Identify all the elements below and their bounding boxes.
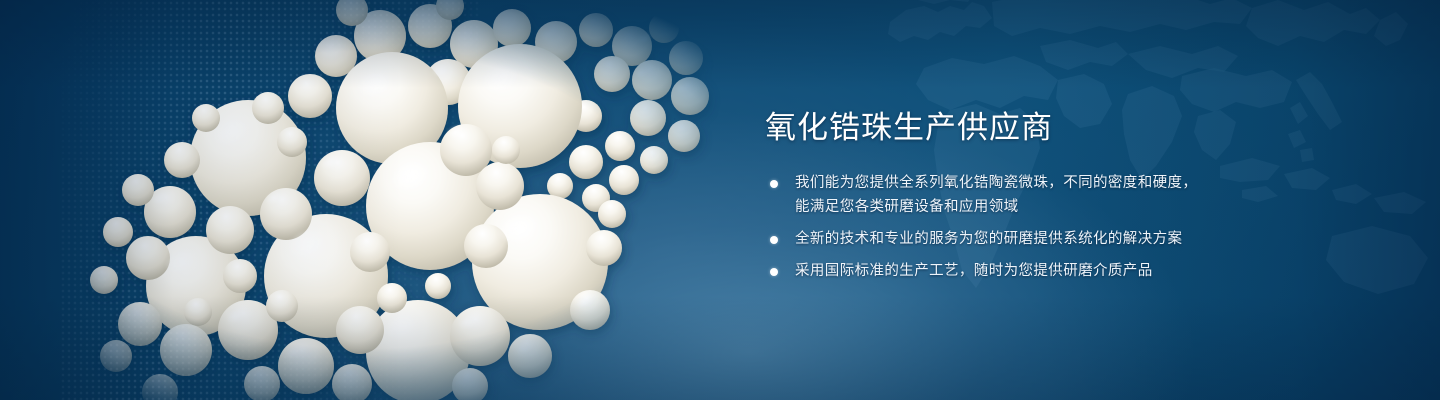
bullet-text-line: 全新的技术和专业的服务为您的研磨提供系统化的解决方案 — [795, 228, 1385, 251]
feature-bullet-list: 我们能为您提供全系列氧化锆陶瓷微珠，不同的密度和硬度， 能满足您各类研磨设备和应… — [765, 172, 1385, 283]
page-title: 氧化锆珠生产供应商 — [765, 108, 1385, 148]
list-item: 全新的技术和专业的服务为您的研磨提供系统化的解决方案 — [765, 228, 1385, 251]
banner-copy-block: 氧化锆珠生产供应商 我们能为您提供全系列氧化锆陶瓷微珠，不同的密度和硬度， 能满… — [765, 108, 1385, 283]
hero-banner: 氧化锆珠生产供应商 我们能为您提供全系列氧化锆陶瓷微珠，不同的密度和硬度， 能满… — [0, 0, 1440, 400]
bullet-dot-icon — [770, 180, 778, 188]
list-item: 我们能为您提供全系列氧化锆陶瓷微珠，不同的密度和硬度， 能满足您各类研磨设备和应… — [765, 172, 1385, 219]
list-item: 采用国际标准的生产工艺，随时为您提供研磨介质产品 — [765, 260, 1385, 283]
bullet-dot-icon — [770, 236, 778, 244]
bullet-dot-icon — [770, 268, 778, 276]
bullet-text-line: 采用国际标准的生产工艺，随时为您提供研磨介质产品 — [795, 260, 1385, 283]
bullet-text-line: 我们能为您提供全系列氧化锆陶瓷微珠，不同的密度和硬度， — [795, 172, 1385, 195]
bullet-text-line: 能满足您各类研磨设备和应用领域 — [795, 196, 1385, 219]
